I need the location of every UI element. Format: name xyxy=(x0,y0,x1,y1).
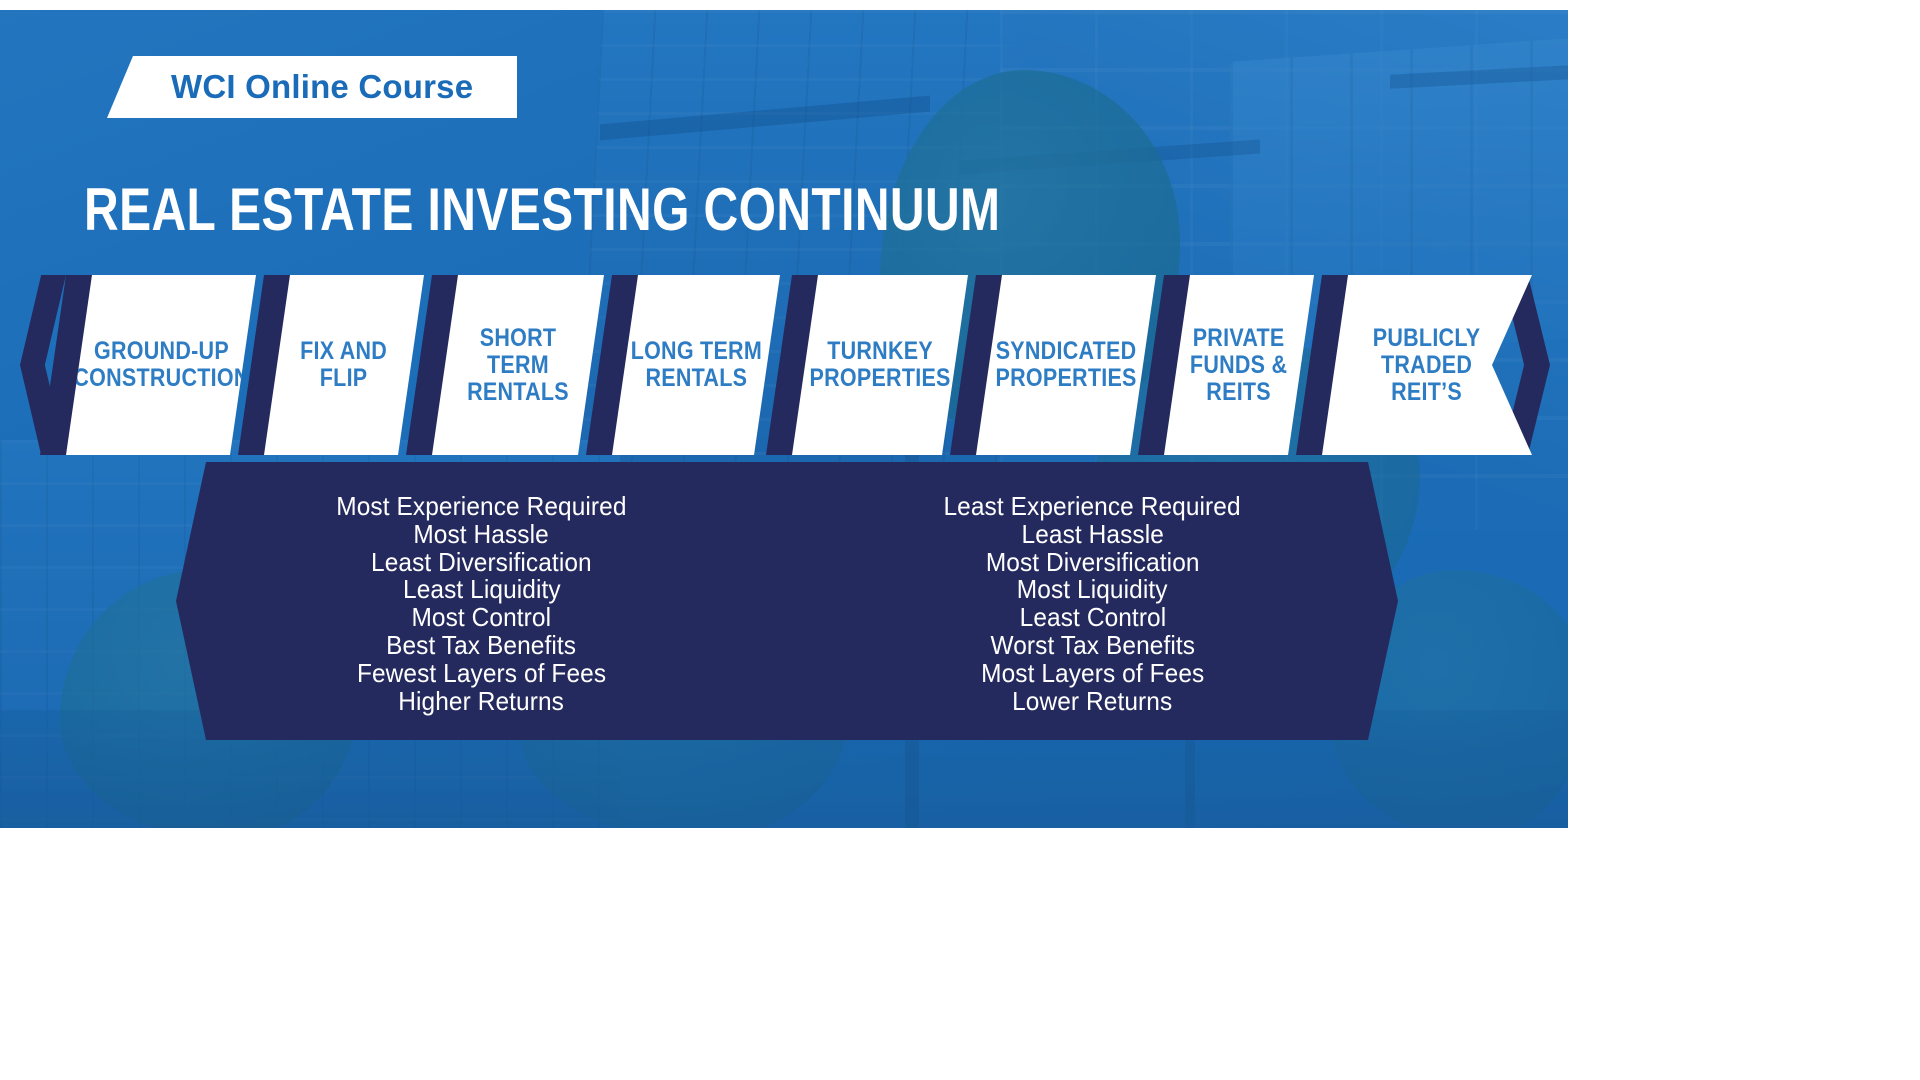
continuum-step-label: LONG TERM RENTALS xyxy=(625,338,767,392)
chevron-face: LONG TERM RENTALS xyxy=(612,275,780,455)
continuum-step-ground-up-construction[interactable]: GROUND-UP CONSTRUCTION xyxy=(66,275,256,455)
comparison-item: Higher Returns xyxy=(399,688,565,716)
continuum-step-fix-and-flip[interactable]: FIX AND FLIP xyxy=(264,275,424,455)
infographic-stage: WCI Online Course REAL ESTATE INVESTING … xyxy=(0,0,1920,1080)
continuum-step-short-term-rentals[interactable]: SHORT TERM RENTALS xyxy=(432,275,604,455)
comparison-item: Most Experience Required xyxy=(336,493,626,521)
comparison-left-column: Most Experience Required Most Hassle Lea… xyxy=(176,462,787,740)
comparison-item: Most Hassle xyxy=(414,521,549,549)
continuum-step-label: PRIVATE FUNDS & REITS xyxy=(1185,325,1293,406)
comparison-item: Lower Returns xyxy=(1012,688,1172,716)
frame-right-border xyxy=(1568,0,1920,1080)
continuum-step-long-term-rentals[interactable]: LONG TERM RENTALS xyxy=(612,275,780,455)
comparison-item: Least Control xyxy=(1019,604,1166,632)
continuum-step-label: GROUND-UP CONSTRUCTION xyxy=(68,338,255,392)
comparison-item: Least Liquidity xyxy=(403,576,561,604)
continuum-step-publicly-traded-reits[interactable]: PUBLICLY TRADED REIT’S xyxy=(1322,275,1532,455)
comparison-item: Most Diversification xyxy=(986,549,1200,577)
comparison-item: Least Hassle xyxy=(1021,521,1163,549)
course-tab-label: WCI Online Course xyxy=(171,68,473,106)
comparison-item: Least Experience Required xyxy=(944,493,1241,521)
chevron-face: GROUND-UP CONSTRUCTION xyxy=(66,275,256,455)
comparison-item: Least Diversification xyxy=(371,549,592,577)
comparison-item: Most Control xyxy=(412,604,552,632)
continuum-step-label: SYNDICATED PROPERTIES xyxy=(990,338,1141,392)
comparison-item: Fewest Layers of Fees xyxy=(357,660,606,688)
comparison-item: Most Liquidity xyxy=(1017,576,1168,604)
chevron-face: SYNDICATED PROPERTIES xyxy=(976,275,1156,455)
comparison-item: Best Tax Benefits xyxy=(387,632,577,660)
course-tab: WCI Online Course xyxy=(107,56,517,118)
comparison-panel: Most Experience Required Most Hassle Lea… xyxy=(176,462,1398,740)
comparison-item: Worst Tax Benefits xyxy=(990,632,1195,660)
chevron-face: FIX AND FLIP xyxy=(264,275,424,455)
comparison-item: Most Layers of Fees xyxy=(981,660,1204,688)
infographic-artboard: WCI Online Course REAL ESTATE INVESTING … xyxy=(0,10,1568,828)
chevron-face: PRIVATE FUNDS & REITS xyxy=(1164,275,1314,455)
continuum-step-label: PUBLICLY TRADED REIT’S xyxy=(1368,325,1486,406)
chevron-face: PUBLICLY TRADED REIT’S xyxy=(1322,275,1532,455)
continuum-step-private-funds-and-reits[interactable]: PRIVATE FUNDS & REITS xyxy=(1164,275,1314,455)
chevron-face: SHORT TERM RENTALS xyxy=(432,275,604,455)
continuum-step-syndicated-properties[interactable]: SYNDICATED PROPERTIES xyxy=(976,275,1156,455)
comparison-right-column: Least Experience Required Least Hassle M… xyxy=(787,462,1398,740)
chevron-face: TURNKEY PROPERTIES xyxy=(792,275,968,455)
continuum-step-label: TURNKEY PROPERTIES xyxy=(804,338,955,392)
continuum-step-turnkey-properties[interactable]: TURNKEY PROPERTIES xyxy=(792,275,968,455)
continuum-step-label: SHORT TERM RENTALS xyxy=(444,325,592,406)
continuum-step-label: FIX AND FLIP xyxy=(295,338,392,392)
continuum-chevron-band: GROUND-UP CONSTRUCTION FIX AND FLIP SHOR… xyxy=(0,275,1568,455)
page-title: REAL ESTATE INVESTING CONTINUUM xyxy=(84,180,1000,240)
